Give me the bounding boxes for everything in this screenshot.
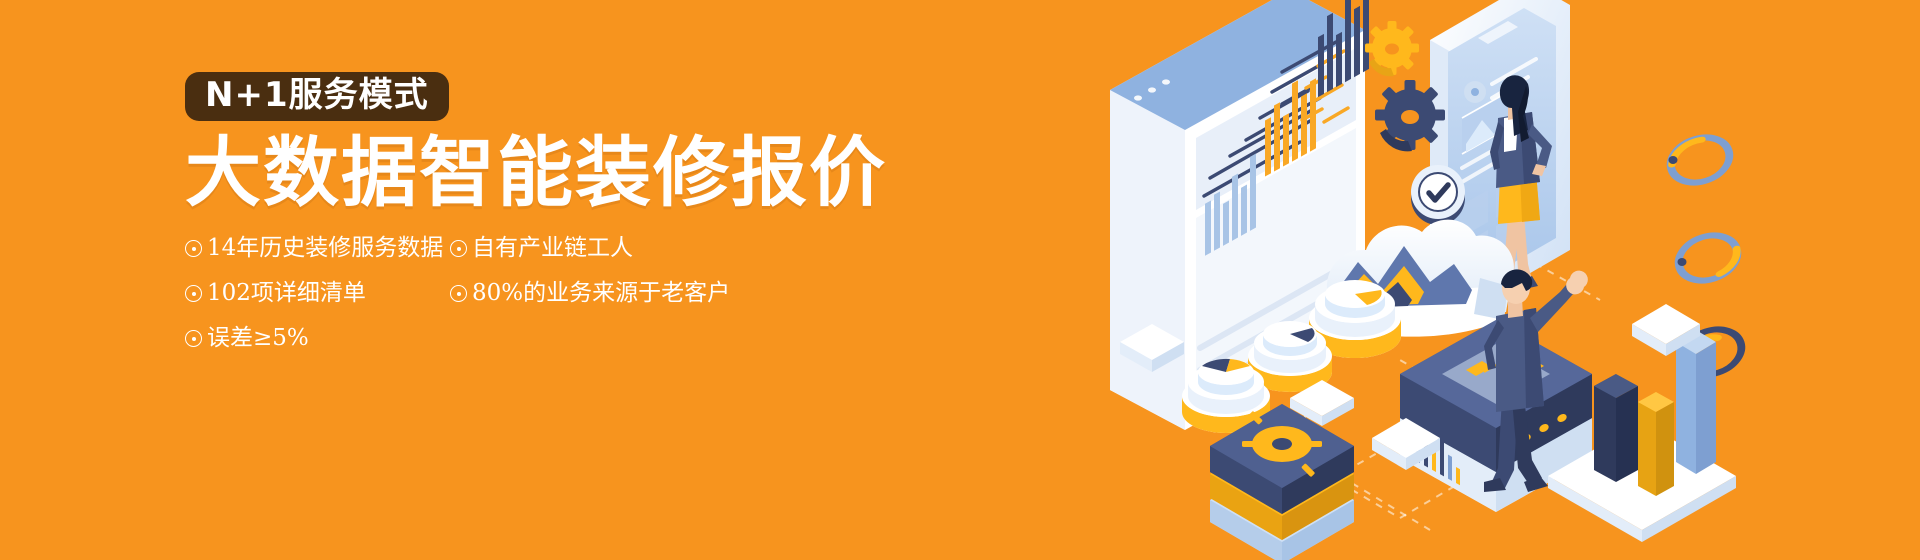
bar-orange xyxy=(1638,392,1674,496)
bullet-dot-icon xyxy=(185,285,202,302)
service-model-badge: N+1服务模式 xyxy=(185,72,449,121)
banner-headline: 大数据智能装修报价 xyxy=(185,135,905,211)
checkmark-badge xyxy=(1411,165,1465,225)
feature-label: 14年历史装修服务数据 xyxy=(207,237,443,260)
promo-banner: N+1服务模式 大数据智能装修报价 14年历史装修服务数据 自有产业链工人 10… xyxy=(0,0,1920,560)
list-item: 14年历史装修服务数据 xyxy=(185,237,450,260)
list-item: 自有产业链工人 xyxy=(450,237,745,260)
banner-copy: N+1服务模式 大数据智能装修报价 14年历史装修服务数据 自有产业链工人 10… xyxy=(185,72,905,372)
bullet-dot-icon xyxy=(450,285,467,302)
bar-light-blue xyxy=(1676,330,1716,474)
feature-label: 自有产业链工人 xyxy=(472,237,633,260)
bullet-dot-icon xyxy=(450,240,467,257)
list-item: 80%的业务来源于老客户 xyxy=(450,282,745,305)
donut-ring xyxy=(1673,228,1743,288)
feature-label: 误差≥5% xyxy=(207,327,309,350)
feature-list: 14年历史装修服务数据 自有产业链工人 102项详细清单 80%的业务来源于老客… xyxy=(185,237,745,372)
bullet-dot-icon xyxy=(185,240,202,257)
bullet-dot-icon xyxy=(185,330,202,347)
list-item: 误差≥5% xyxy=(185,327,450,350)
bar-navy xyxy=(1594,374,1638,482)
isometric-illustration xyxy=(1100,0,1920,560)
donut-ring xyxy=(1665,130,1735,190)
feature-label: 80%的业务来源于老客户 xyxy=(472,282,730,305)
feature-label: 102项详细清单 xyxy=(207,282,366,305)
gear-icon-yellow xyxy=(1365,21,1419,76)
list-item: 102项详细清单 xyxy=(185,282,450,305)
